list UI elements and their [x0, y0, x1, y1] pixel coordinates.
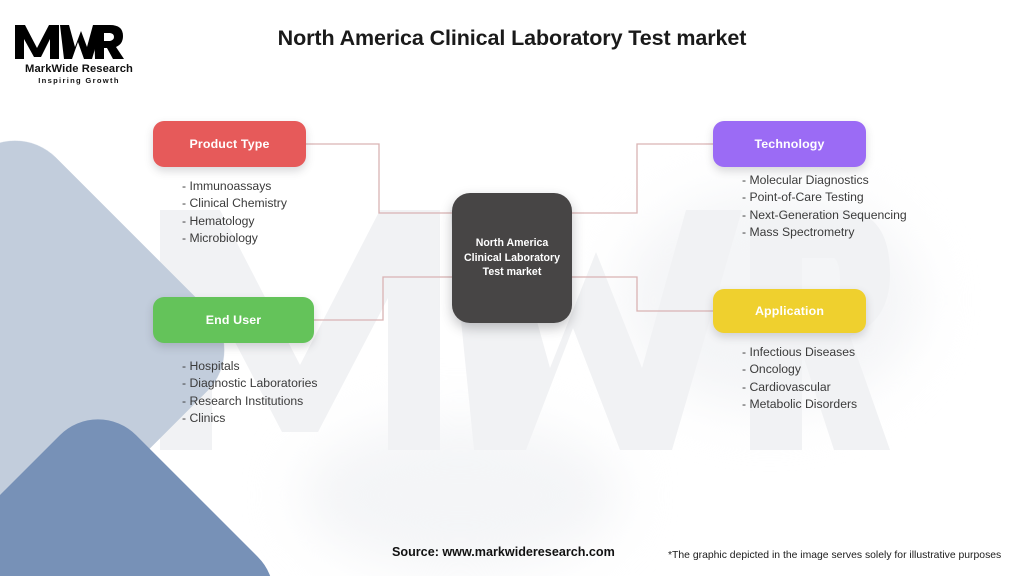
list-item: - Hematology — [182, 213, 287, 230]
center-node[interactable]: North America Clinical Laboratory Test m… — [452, 193, 572, 323]
branch-chip-technology[interactable]: Technology — [713, 121, 866, 167]
branch-chip-end-user[interactable]: End User — [153, 297, 314, 343]
list-item: - Diagnostic Laboratories — [182, 375, 318, 392]
list-item: - Immunoassays — [182, 178, 287, 195]
branch-items-product-type: - Immunoassays - Clinical Chemistry - He… — [182, 178, 287, 248]
connector-technology — [572, 144, 713, 213]
disclaimer-note: *The graphic depicted in the image serve… — [668, 550, 1001, 561]
connector-product-type — [306, 144, 452, 213]
list-item: - Hospitals — [182, 358, 318, 375]
list-item: - Microbiology — [182, 230, 287, 247]
center-node-line-1: North America — [476, 236, 549, 251]
list-item: - Clinics — [182, 410, 318, 427]
list-item: - Metabolic Disorders — [742, 396, 857, 413]
list-item: - Research Institutions — [182, 393, 318, 410]
center-node-line-2: Clinical Laboratory — [464, 251, 560, 266]
list-item: - Cardiovascular — [742, 379, 857, 396]
list-item: - Next-Generation Sequencing — [742, 207, 907, 224]
connector-application — [572, 277, 713, 311]
infographic-canvas: MarkWide Research Inspiring Growth North… — [0, 0, 1024, 576]
connector-end-user — [314, 277, 452, 320]
branch-items-end-user: - Hospitals - Diagnostic Laboratories - … — [182, 358, 318, 428]
list-item: - Mass Spectrometry — [742, 224, 907, 241]
branch-items-application: - Infectious Diseases - Oncology - Cardi… — [742, 344, 857, 414]
source-label: Source: www.markwideresearch.com — [392, 545, 615, 559]
branch-chip-product-type[interactable]: Product Type — [153, 121, 306, 167]
list-item: - Molecular Diagnostics — [742, 172, 907, 189]
list-item: - Infectious Diseases — [742, 344, 857, 361]
list-item: - Point-of-Care Testing — [742, 189, 907, 206]
center-node-line-3: Test market — [483, 265, 542, 280]
list-item: - Clinical Chemistry — [182, 195, 287, 212]
list-item: - Oncology — [742, 361, 857, 378]
branch-chip-application[interactable]: Application — [713, 289, 866, 333]
branch-items-technology: - Molecular Diagnostics - Point-of-Care … — [742, 172, 907, 242]
